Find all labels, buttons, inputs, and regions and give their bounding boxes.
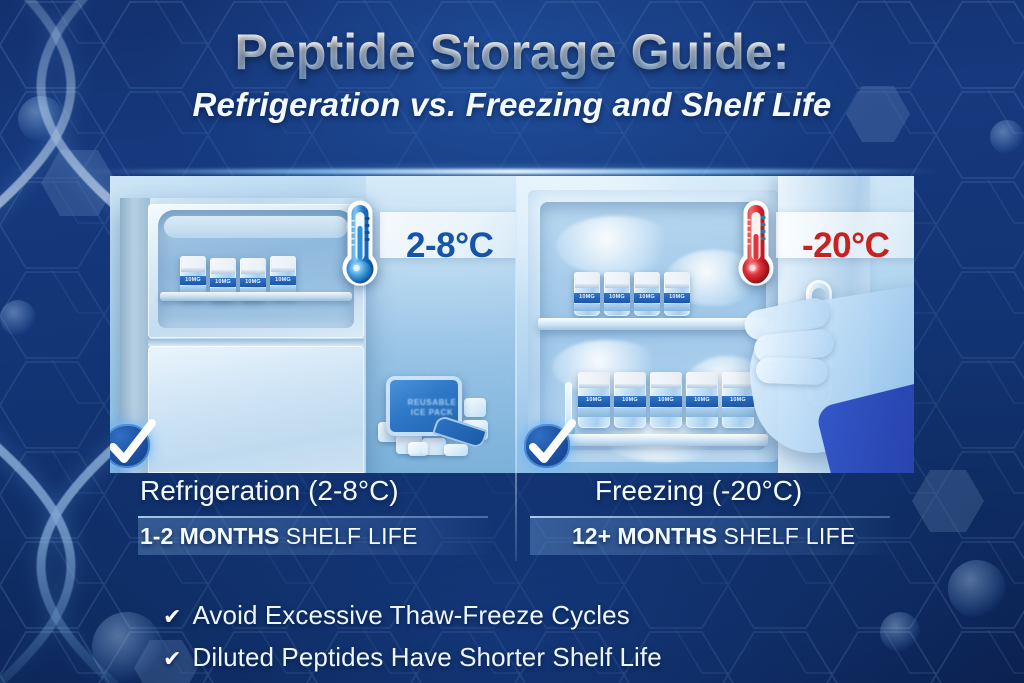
panel-refrigeration[interactable]: 10MG 10MG 10MG 10MG [110,176,516,473]
vial-neck [579,384,609,388]
temperature-badge-refrigeration: 2-8°C [338,200,493,292]
vial-cap [576,272,600,284]
list-item: ✔ Diluted Peptides Have Shorter Shelf Li… [163,642,923,673]
header-divider [86,169,938,174]
vial-label-text: 10MG [240,279,266,285]
refrigerator-bottom-door [148,346,364,473]
vial-cap [688,372,718,384]
vial-cap [182,256,206,268]
vial: 10MG [574,272,600,316]
check-icon: ✔ [163,606,181,628]
check-icon [110,416,158,472]
vial-neck [241,270,265,274]
caption-title-freezing: Freezing (-20°C) [595,475,802,507]
infographic-canvas: Peptide Storage Guide: Refrigeration vs.… [0,0,1024,683]
check-icon [522,416,578,472]
bokeh-dot [0,300,36,336]
header: Peptide Storage Guide: Refrigeration vs.… [0,0,1024,124]
vial-label-text: 10MG [578,397,610,403]
vial: 10MG [722,372,754,428]
vial-neck [651,384,681,388]
panel-freezing[interactable]: 10MG 10MG 10MG 10MG [516,176,914,473]
vial-label: 10MG [240,278,266,287]
temperature-badge-freezing: -20°C [734,200,889,292]
shelf-life-label-refrigeration: SHELF LIFE [286,523,418,549]
vial-label: 10MG [578,396,610,407]
temperature-value-freezing: -20°C [802,226,889,266]
vial: 10MG [664,272,690,316]
vial-label-text: 10MG [686,397,718,403]
caption-band: Refrigeration (2-8°C) 1-2 MONTHS SHELF L… [110,473,914,561]
vial-cap [616,372,646,384]
vial-label: 10MG [210,278,236,287]
vial-label: 10MG [664,293,690,303]
vial-neck [605,284,629,288]
freezer-shelf-top [538,318,768,330]
thermometer-hot-icon [734,200,778,292]
vial-label-text: 10MG [270,277,296,283]
caption-refrigeration: Refrigeration (2-8°C) 1-2 MONTHS SHELF L… [110,473,512,561]
vial-label-text: 10MG [574,294,600,300]
vial-label-text: 10MG [210,279,236,285]
refrigerator-door-gap [148,339,364,346]
vial-label-secondary [604,304,630,311]
vial-cap [272,256,296,268]
vial-label-text: 10MG [604,294,630,300]
vial-neck [665,284,689,288]
ice-pack-label: REUSABLE ICE PACK [402,398,462,418]
glove-finger [756,357,829,385]
vial-neck [687,384,717,388]
ice-pack-group: REUSABLE ICE PACK [378,372,490,456]
vial-cap [242,258,266,270]
shelf-life-duration-freezing: 12+ MONTHS [572,523,717,549]
vial-label-text: 10MG [180,277,206,283]
vial: 10MG [686,372,718,428]
caption-shelf-life-refrigeration: 1-2 MONTHS SHELF LIFE [140,523,418,550]
tip-text: Avoid Excessive Thaw-Freeze Cycles [192,600,629,631]
caption-freezing: Freezing (-20°C) 12+ MONTHS SHELF LIFE [512,473,914,561]
vial-label-secondary [650,408,682,417]
vial-cap [606,272,630,284]
vial-label-secondary [614,408,646,417]
frost-patch [556,216,676,276]
bokeh-dot [948,560,1006,618]
check-badge-refrigeration [110,416,158,472]
refrigerator-cavity-lip [164,216,348,238]
bokeh-dot [990,120,1024,154]
vial-label: 10MG [634,293,660,303]
vial-label: 10MG [686,396,718,407]
check-badge-freezing [522,416,578,472]
vial-cap [666,272,690,284]
caption-title-refrigeration: Refrigeration (2-8°C) [140,475,399,507]
vial-label: 10MG [604,293,630,303]
vial-cap [580,372,610,384]
vial: 10MG [634,272,660,316]
vial-label-text: 10MG [634,294,660,300]
page-subtitle: Refrigeration vs. Freezing and Shelf Lif… [0,86,1024,124]
vial-label-secondary [686,408,718,417]
vial: 10MG [578,372,610,428]
vial-cap [636,272,660,284]
comparison-panels: 10MG 10MG 10MG 10MG [110,176,914,473]
vial: 10MG [604,272,630,316]
vial-neck [723,384,753,388]
refrigerator-shelf [160,292,352,301]
vial-label: 10MG [574,293,600,303]
vial-label-text: 10MG [722,397,754,403]
bokeh-dot [92,612,162,682]
tips-list: ✔ Avoid Excessive Thaw-Freeze Cycles ✔ D… [163,600,923,683]
vial-label: 10MG [614,396,646,407]
vial-neck [635,284,659,288]
vial-label-secondary [574,304,600,311]
vial-label: 10MG [270,276,296,285]
page-title: Peptide Storage Guide: [0,26,1024,79]
vial-neck [615,384,645,388]
check-icon: ✔ [163,648,181,670]
vial-label-text: 10MG [650,397,682,403]
vial-neck [575,284,599,288]
ice-cube [444,444,468,456]
ice-cube [408,442,428,456]
shelf-life-label-freezing: SHELF LIFE [723,523,855,549]
vial-neck [181,268,205,272]
vial-label-text: 10MG [664,294,690,300]
vial-label: 10MG [180,276,206,285]
temperature-value-refrigeration: 2-8°C [406,226,493,266]
vial-label: 10MG [722,396,754,407]
ice-cube [464,398,486,417]
vial-label: 10MG [650,396,682,407]
vial-neck [271,268,295,272]
vial-cap [652,372,682,384]
thermometer-cold-icon [338,200,382,292]
vial: 10MG [650,372,682,428]
shelf-life-duration-refrigeration: 1-2 MONTHS [140,523,279,549]
vial-label-text: 10MG [614,397,646,403]
vial: 10MG [614,372,646,428]
vial-label-secondary [634,304,660,311]
vial-label-secondary [722,408,754,417]
vial-neck [211,270,235,274]
vial-cap [212,258,236,270]
vial-label-secondary [578,408,610,417]
tip-text: Diluted Peptides Have Shorter Shelf Life [192,642,661,673]
caption-shelf-life-freezing: 12+ MONTHS SHELF LIFE [572,523,856,550]
list-item: ✔ Avoid Excessive Thaw-Freeze Cycles [163,600,923,631]
vial-label-secondary [664,304,690,311]
